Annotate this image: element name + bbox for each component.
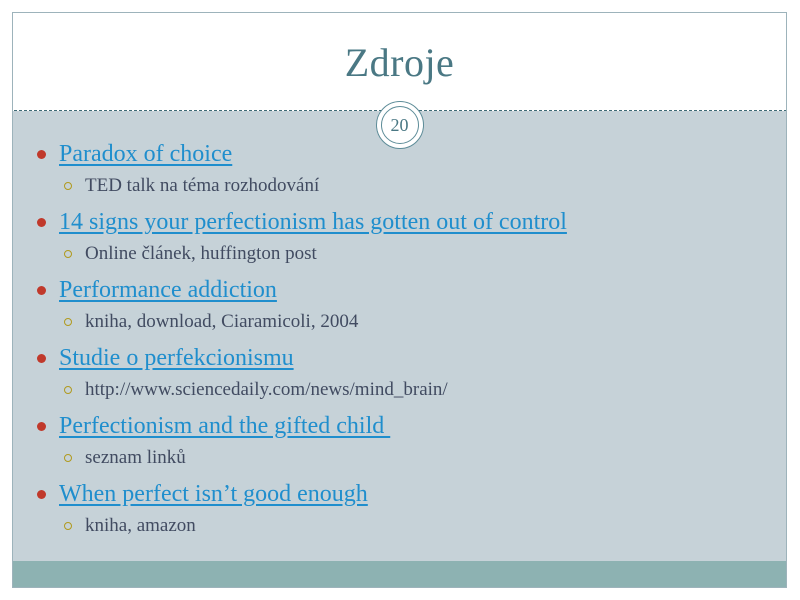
bullet-icon [37,422,46,431]
resource-entry[interactable]: When perfect isn’t good enough [13,477,786,511]
resource-description: kniha, download, Ciaramicoli, 2004 [13,308,786,336]
sub-bullet-icon [64,182,72,190]
resource-link[interactable]: Perfectionism and the gifted child [59,413,390,439]
sub-bullet-icon [64,318,72,326]
slide: Zdroje 20 Paradox of choice TED talk na … [12,12,787,588]
list-item: When perfect isn’t good enough kniha, am… [13,477,786,540]
resource-description: TED talk na téma rozhodování [13,172,786,200]
page-title: Zdroje [13,39,786,87]
resource-description: http://www.sciencedaily.com/news/mind_br… [13,376,786,404]
resource-description: kniha, amazon [13,512,786,540]
bullet-icon [37,490,46,499]
list-item: Performance addiction kniha, download, C… [13,273,786,336]
sub-bullet-icon [64,454,72,462]
resource-description: Online článek, huffington post [13,240,786,268]
bullet-icon [37,150,46,159]
resource-link[interactable]: Studie o perfekcionismu [59,345,294,371]
resource-description-text: kniha, amazon [85,515,196,536]
resource-link[interactable]: Paradox of choice [59,141,232,167]
bullet-icon [37,218,46,227]
sub-bullet-icon [64,250,72,258]
page-number: 20 [391,116,409,134]
resource-description-text: kniha, download, Ciaramicoli, 2004 [85,311,358,332]
resource-description-text: seznam linků [85,447,186,468]
resource-link[interactable]: 14 signs your perfectionism has gotten o… [59,209,567,235]
resource-list: Paradox of choice TED talk na téma rozho… [13,111,786,545]
footer-band [13,561,786,588]
sub-bullet-icon [64,386,72,394]
bullet-icon [37,286,46,295]
resource-description-text: TED talk na téma rozhodování [85,175,319,196]
resource-description: seznam linků [13,444,786,472]
bullet-icon [37,354,46,363]
resource-entry[interactable]: 14 signs your perfectionism has gotten o… [13,205,786,239]
resource-description-text: http://www.sciencedaily.com/news/mind_br… [85,379,448,400]
slide-header: Zdroje [13,13,786,111]
list-item: 14 signs your perfectionism has gotten o… [13,205,786,268]
resource-entry[interactable]: Perfectionism and the gifted child [13,409,786,443]
resource-entry[interactable]: Performance addiction [13,273,786,307]
resource-description-text: Online článek, huffington post [85,243,317,264]
page-number-badge-ring: 20 [381,106,419,144]
resource-link[interactable]: When perfect isn’t good enough [59,481,368,507]
list-item: Studie o perfekcionismu http://www.scien… [13,341,786,404]
list-item: Perfectionism and the gifted child sezna… [13,409,786,472]
resource-entry[interactable]: Studie o perfekcionismu [13,341,786,375]
page-number-badge: 20 [376,101,424,149]
sub-bullet-icon [64,522,72,530]
resource-link[interactable]: Performance addiction [59,277,277,303]
